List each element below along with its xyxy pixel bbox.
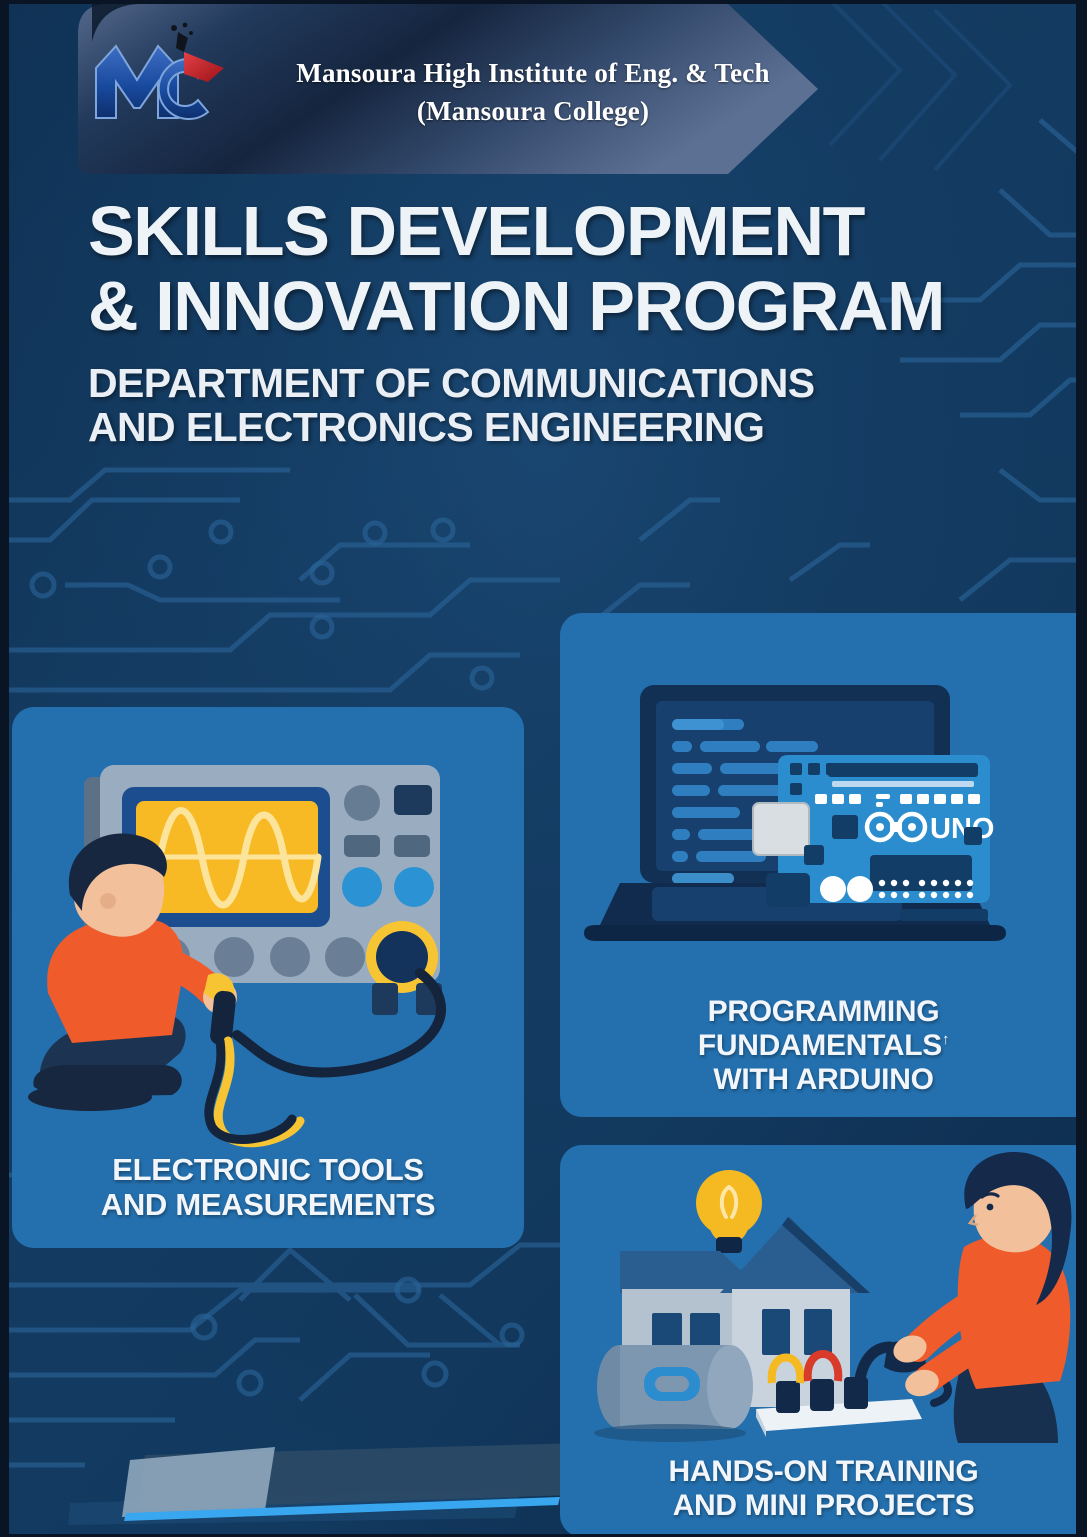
caption-superscript: ↑ [942,1031,949,1048]
poster-root: Mansoura High Institute of Eng. & Tech (… [0,0,1087,1537]
laptop-arduino-icon: UNO [560,675,1087,1035]
institute-name-line1: Mansoura High Institute of Eng. & Tech [263,54,803,92]
program-title-line2: & INNOVATION PROGRAM [88,273,1058,340]
oscilloscope-technician-icon [12,735,524,1175]
institute-name: Mansoura High Institute of Eng. & Tech (… [263,54,803,131]
caption-line1: PROGRAMMING [560,995,1087,1029]
arduino-board-label: UNO [930,813,994,845]
caption-line1: ELECTRONIC TOOLS [12,1152,524,1187]
card-caption-hands-on-training: HANDS-ON TRAINING AND MINI PROJECTS [560,1455,1087,1523]
caption-line3: WITH ARDUINO [560,1063,1087,1097]
card-hands-on-training[interactable]: HANDS-ON TRAINING AND MINI PROJECTS [560,1145,1087,1537]
institute-header-banner: Mansoura High Institute of Eng. & Tech (… [78,4,818,174]
department-subtitle: DEPARTMENT OF COMMUNICATIONS AND ELECTRO… [88,362,1058,450]
decorative-ribbon [60,1385,580,1525]
title-block: SKILLS DEVELOPMENT & INNOVATION PROGRAM … [88,198,1058,450]
card-caption-programming-arduino: PROGRAMMING FUNDAMENTALS↑ WITH ARDUINO [560,995,1087,1097]
institute-name-line2: (Mansoura College) [263,92,803,130]
institute-logo-icon [92,22,232,142]
caption-line2: AND MINI PROJECTS [560,1489,1087,1523]
smart-home-engineer-icon [560,1151,1087,1443]
program-title-line1: SKILLS DEVELOPMENT [88,198,1058,265]
department-subtitle-line2: AND ELECTRONICS ENGINEERING [88,406,1058,450]
caption-line1: HANDS-ON TRAINING [560,1455,1087,1489]
caption-line2: AND MEASUREMENTS [12,1187,524,1222]
card-electronic-tools[interactable]: ELECTRONIC TOOLS AND MEASUREMENTS [12,707,524,1248]
department-subtitle-line1: DEPARTMENT OF COMMUNICATIONS [88,362,1058,406]
caption-line2: FUNDAMENTALS↑ [560,1029,1087,1063]
card-caption-electronic-tools: ELECTRONIC TOOLS AND MEASUREMENTS [12,1152,524,1222]
card-programming-arduino[interactable]: UNO [560,613,1087,1117]
